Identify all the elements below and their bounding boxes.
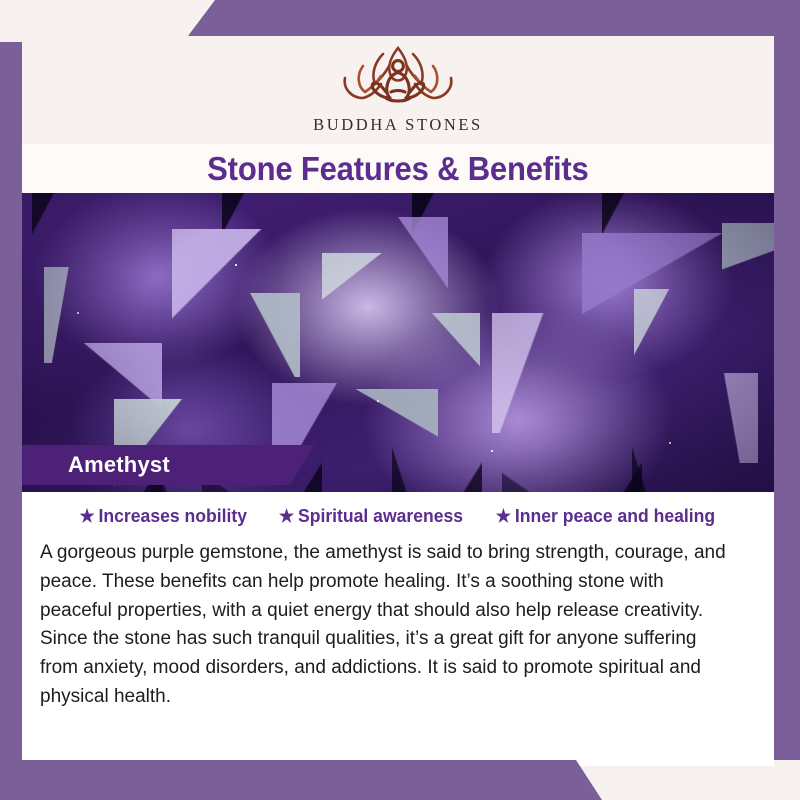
feature-label: Inner peace and healing <box>515 505 715 527</box>
frame-right-band <box>774 0 800 800</box>
star-icon: ★ <box>495 507 510 525</box>
feature-item-nobility: ★ Increases nobility <box>80 505 248 527</box>
feature-item-spiritual-awareness: ★ Spiritual awareness <box>279 505 463 527</box>
stone-name-label: Amethyst <box>68 452 170 478</box>
frame-bottom-band <box>0 760 800 800</box>
stone-features-infographic: BUDDHA STONES Stone Features & Benefits … <box>0 0 800 800</box>
amethyst-crystal-cluster-photo: Amethyst <box>22 193 774 492</box>
feature-list: ★ Increases nobility ★ Spiritual awarene… <box>22 492 774 527</box>
content-card: BUDDHA STONES Stone Features & Benefits … <box>22 36 774 766</box>
feature-label: Spiritual awareness <box>298 505 463 527</box>
frame-left-band <box>0 42 22 800</box>
stone-description-section: ★ Increases nobility ★ Spiritual awarene… <box>22 492 774 766</box>
brand-wordmark: BUDDHA STONES <box>313 115 483 135</box>
page-title: Stone Features & Benefits <box>207 150 588 188</box>
star-icon: ★ <box>80 507 95 525</box>
star-icon: ★ <box>279 507 294 525</box>
frame-top-band <box>0 0 800 36</box>
lotus-meditation-figure-icon <box>323 40 473 114</box>
feature-item-inner-peace: ★ Inner peace and healing <box>495 505 714 527</box>
title-banner: Stone Features & Benefits <box>22 144 774 193</box>
stone-description-text: A gorgeous purple gemstone, the amethyst… <box>40 538 736 711</box>
feature-label: Increases nobility <box>99 505 247 527</box>
stone-name-tag: Amethyst <box>22 445 314 485</box>
brand-header: BUDDHA STONES <box>22 36 774 144</box>
